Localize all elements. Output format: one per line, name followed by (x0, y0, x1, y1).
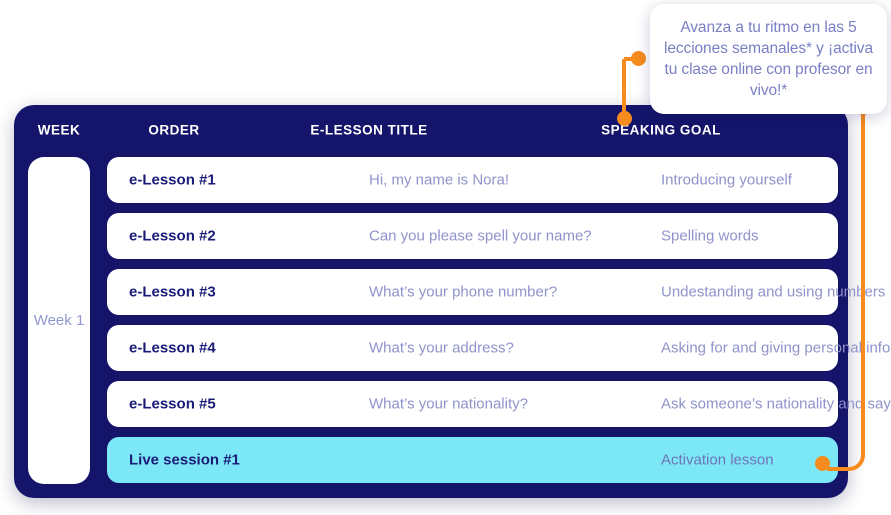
connector-right-elbow (827, 441, 865, 471)
connector-left-vertical-line (622, 59, 626, 119)
connector-left-top-dot (631, 51, 646, 66)
row-order-label: e-Lesson #1 (129, 172, 216, 189)
row-order-label: e-Lesson #4 (129, 340, 216, 357)
callout-tooltip: Avanza a tu ritmo en las 5 lecciones sem… (650, 4, 887, 114)
column-header-week: WEEK (38, 123, 81, 138)
connector-left-bottom-dot (617, 111, 632, 126)
table-row[interactable]: e-Lesson #1 Hi, my name is Nora! Introdu… (107, 157, 838, 203)
row-order-label: e-Lesson #3 (129, 284, 216, 301)
row-order-label: e-Lesson #5 (129, 396, 216, 413)
column-header-speaking-goal: SPEAKING GOAL (601, 123, 721, 138)
column-header-elesson-title: E-LESSON TITLE (310, 123, 427, 138)
lesson-rows-container: e-Lesson #1 Hi, my name is Nora! Introdu… (107, 157, 838, 493)
week-column-card: Week 1 (28, 157, 90, 484)
callout-text: Avanza a tu ritmo en las 5 lecciones sem… (662, 17, 875, 101)
connector-right-bottom-dot (815, 456, 830, 471)
connector-right-vertical-line (861, 107, 865, 457)
row-order-label: e-Lesson #2 (129, 228, 216, 245)
schedule-card: WEEK ORDER E-LESSON TITLE SPEAKING GOAL … (14, 105, 848, 498)
table-row[interactable]: e-Lesson #4 What’s your address? Asking … (107, 325, 838, 371)
schedule-infographic: Avanza a tu ritmo en las 5 lecciones sem… (0, 0, 891, 515)
table-row[interactable]: e-Lesson #5 What’s your nationality? Ask… (107, 381, 838, 427)
table-row[interactable]: e-Lesson #2 Can you please spell your na… (107, 213, 838, 259)
table-row[interactable]: e-Lesson #3 What’s your phone number? Un… (107, 269, 838, 315)
row-order-label: Live session #1 (129, 452, 240, 469)
column-header-order: ORDER (148, 123, 199, 138)
table-row-live-session[interactable]: Live session #1 Activation lesson (107, 437, 838, 483)
week-label: Week 1 (34, 312, 85, 329)
